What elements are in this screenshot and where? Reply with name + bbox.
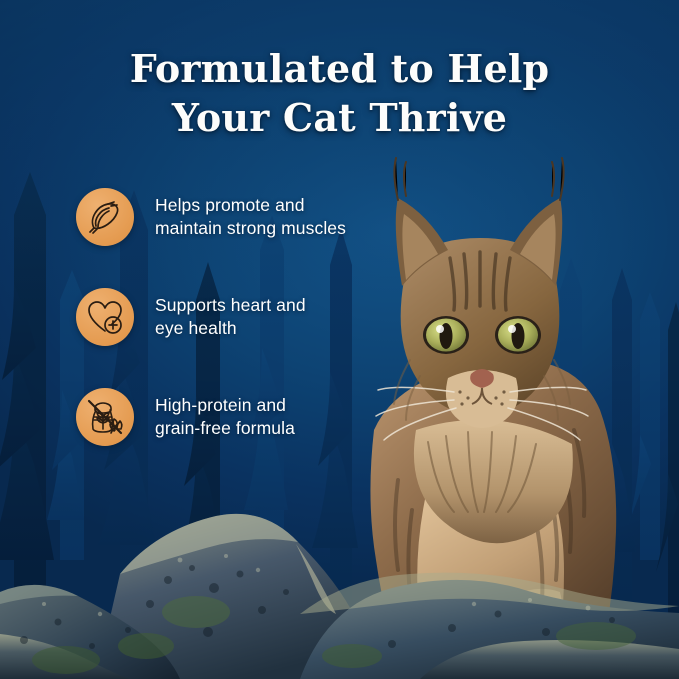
benefit-row-heart: Supports heart and eye health [76,286,406,348]
benefit-text-line-2: eye health [155,317,306,340]
heart-plus-icon [85,297,125,337]
benefit-text-grain: High-protein and grain-free formula [155,394,295,440]
benefit-text-line-1: Supports heart and [155,294,306,317]
page-title: Formulated to Help Your Cat Thrive [0,44,679,142]
muscle-icon [85,197,125,237]
benefit-icon-badge [76,288,134,346]
benefits-list: Helps promote and maintain strong muscle… [76,186,406,448]
benefit-text-line-2: maintain strong muscles [155,217,346,240]
promo-image: Formulated to Help Your Cat Thrive [0,0,679,679]
rock-foreground [0,464,679,679]
benefit-text-muscle: Helps promote and maintain strong muscle… [155,194,346,240]
benefit-text-heart: Supports heart and eye health [155,294,306,340]
benefit-row-grain: High-protein and grain-free formula [76,386,406,448]
benefit-row-muscle: Helps promote and maintain strong muscle… [76,186,406,248]
benefit-text-line-1: Helps promote and [155,194,346,217]
benefit-icon-badge [76,188,134,246]
benefit-text-line-1: High-protein and [155,394,295,417]
no-grain-icon [84,396,126,438]
headline-line-1: Formulated to Help [0,44,679,93]
benefit-icon-badge [76,388,134,446]
benefit-text-line-2: grain-free formula [155,417,295,440]
